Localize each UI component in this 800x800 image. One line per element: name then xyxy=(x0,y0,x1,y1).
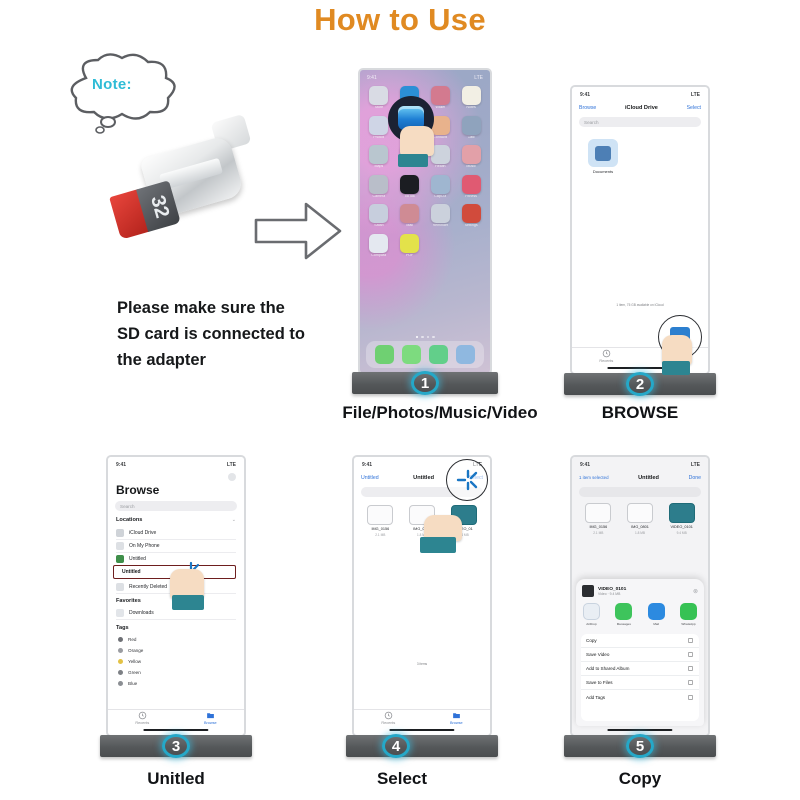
phone4-tab-recents-label: Recents xyxy=(381,721,395,725)
file-name: IMG_0156 xyxy=(589,525,607,529)
app-icon xyxy=(431,86,450,105)
app-label: Compass xyxy=(371,254,386,258)
phone2-search-placeholder: Search xyxy=(584,120,599,125)
phone2-status-time: 9:41 xyxy=(580,92,590,98)
file-name: VIDEO_0101 xyxy=(670,525,692,529)
phone2-status-bar: 9:41 LTE xyxy=(572,90,708,99)
app-label: Health xyxy=(435,165,445,169)
phone3-section-locations: Locations xyxy=(116,517,142,523)
phone1-app-pdf[interactable]: PDF xyxy=(397,234,423,258)
phone4-file-grid: IMG_01562.1 MBIMG_08011.8 MBVIDEO_019.4 … xyxy=(362,505,482,537)
phone3-row-recently-deleted-label: Recently Deleted xyxy=(129,584,167,590)
phone4-files-grid: 9:41 LTE Untitled Untitled Select IMG_01… xyxy=(354,457,490,735)
app-label: Music xyxy=(466,165,475,169)
phone2-status-right: LTE xyxy=(691,92,700,98)
phone5-navbar-title: Untitled xyxy=(638,475,659,481)
file-meta: 2.1 MB xyxy=(375,533,385,537)
app-icon xyxy=(462,86,481,105)
app-icon xyxy=(462,116,481,135)
phone3-tab-browse[interactable]: Browse xyxy=(204,711,217,725)
file-thumbnail-icon xyxy=(669,503,695,523)
phone4-file-item[interactable]: IMG_01562.1 MB xyxy=(362,505,399,537)
phone3-tag-label: Yellow xyxy=(128,659,141,664)
phone2-folder-item[interactable]: Documents xyxy=(588,139,618,174)
phone4-tabbar: Recents Browse xyxy=(354,709,490,726)
share-app-whatsapp[interactable]: WhatsApp xyxy=(678,603,699,626)
right-arrow-icon xyxy=(252,196,344,266)
phone5-status-time: 9:41 xyxy=(580,462,590,468)
phone2-folder-label: Documents xyxy=(588,169,618,174)
phone3-tag-green[interactable]: Green xyxy=(118,667,141,678)
download-icon xyxy=(687,651,694,658)
tag-dot-icon xyxy=(118,681,123,686)
cloud-icon xyxy=(687,665,694,672)
close-icon[interactable]: ⊗ xyxy=(693,588,698,595)
file-meta: 2.1 MB xyxy=(593,531,603,535)
dock-icon-phone[interactable] xyxy=(375,345,394,364)
phone3-browse-screen: 9:41 LTE Browse Search Locations ⌄ iClou… xyxy=(108,457,244,735)
phone3-tabbar: Recents Browse xyxy=(108,709,244,726)
share-row-label: Copy xyxy=(586,638,597,643)
phone1-dock xyxy=(366,341,484,368)
dock-icon-shortcut[interactable] xyxy=(456,345,475,364)
phone5-file-item[interactable]: IMG_01562.1 MB xyxy=(580,503,617,535)
caption-step-2: BROWSE xyxy=(570,403,710,423)
app-label: Wallet xyxy=(435,106,445,110)
share-row-add-tags[interactable]: Add Tags xyxy=(581,690,699,704)
app-label: PDF xyxy=(406,254,413,258)
drive-icon xyxy=(116,555,124,563)
app-label: Store xyxy=(375,106,384,110)
phone3-row-untitled-selected-label: Untitled xyxy=(122,569,141,575)
phone3-status-time: 9:41 xyxy=(116,462,126,468)
phone1-app-settings[interactable]: Settings xyxy=(458,204,484,228)
phone5-search-bar[interactable] xyxy=(579,487,701,497)
microsd-card: 32 xyxy=(109,180,181,239)
app-icon xyxy=(400,234,419,253)
app-icon xyxy=(431,204,450,223)
share-row-copy[interactable]: Copy xyxy=(581,634,699,648)
phone2-footnote: 1 item, 75 GB available on iCloud xyxy=(584,303,696,308)
phone5-file-item[interactable]: VIDEO_01019.4 MB xyxy=(663,503,700,535)
file-meta: 1.8 MB xyxy=(635,531,645,535)
phone1-app-maps[interactable]: Maps xyxy=(366,145,392,169)
phone3-more-button[interactable] xyxy=(228,473,236,481)
app-icon xyxy=(369,86,388,105)
phone5-file-item[interactable]: IMG_08011.8 MB xyxy=(622,503,659,535)
note-label: Note: xyxy=(92,76,132,93)
phone3-tab-recents[interactable]: Recents xyxy=(135,711,149,725)
phone-step-4: 9:41 LTE Untitled Untitled Select IMG_01… xyxy=(352,455,492,755)
phone1-status-time: 9:41 xyxy=(367,75,377,81)
share-row-label: Add Tags xyxy=(586,695,605,700)
how-to-use-infographic: How to Use Note: 32 Please make sure the… xyxy=(0,0,800,800)
phone3-row-downloads-label: Downloads xyxy=(129,610,154,616)
phone1-app-fitness[interactable]: Fitness xyxy=(458,175,484,199)
phone4-screen: 9:41 LTE Untitled Untitled Select IMG_01… xyxy=(352,455,492,737)
app-label: Calc xyxy=(468,136,475,140)
phone1-app-notes[interactable]: Notes xyxy=(458,86,484,110)
hand-cuff xyxy=(398,154,428,167)
share-app-mail[interactable]: Mail xyxy=(646,603,667,626)
phone1-app-safari[interactable]: Safari xyxy=(366,204,392,228)
phone1-app-tiktok[interactable]: TikTok xyxy=(397,175,423,199)
phone1-page-dots xyxy=(360,336,490,339)
phone5-navbar: 1 item selected Untitled Done xyxy=(572,471,708,484)
dock-icon-whatsapp[interactable] xyxy=(429,345,448,364)
app-label: Fitness xyxy=(465,195,477,199)
share-app-label: AirDrop xyxy=(586,622,597,626)
app-label: Camera xyxy=(372,195,385,199)
app-label: TikTok xyxy=(405,195,415,199)
phone1-app-reminder[interactable]: Reminder xyxy=(428,204,454,228)
share-row-save-to-files[interactable]: Save to Files xyxy=(581,676,699,690)
phone-step-1: 9:41 LTE StoreFilesWalletNotesPhotosCloc… xyxy=(358,68,492,393)
file-thumbnail-icon xyxy=(627,503,653,523)
app-icon xyxy=(369,204,388,223)
share-app-icon xyxy=(615,603,632,620)
phone3-search-placeholder: Search xyxy=(120,504,135,509)
share-row-label: Add to Shared Album xyxy=(586,666,629,671)
app-label: Notes xyxy=(466,106,475,110)
phone5-file-grid: IMG_01562.1 MBIMG_08011.8 MBVIDEO_01019.… xyxy=(580,503,700,535)
share-sheet-apps: AirDropMessagesMailWhatsApp xyxy=(581,603,699,629)
phone3-tab-recents-label: Recents xyxy=(135,721,149,725)
share-app-label: Mail xyxy=(653,622,659,626)
caption-step-5: Copy xyxy=(570,769,710,789)
phone5-selection-count: 1 item selected xyxy=(579,475,609,480)
app-icon xyxy=(369,234,388,253)
app-icon xyxy=(462,175,481,194)
phone3-tag-red[interactable]: Red xyxy=(118,634,136,645)
folder-icon xyxy=(588,139,618,167)
phone-step-2: 9:41 LTE Browse iCloud Drive Select Sear… xyxy=(570,85,710,395)
pointing-hand-icon xyxy=(400,126,434,156)
step-number-1: 1 xyxy=(411,371,439,395)
phone4-stand xyxy=(346,735,498,757)
phone3-section-favorites: Favorites xyxy=(116,598,141,604)
phone4-back-button[interactable]: Untitled xyxy=(361,475,379,481)
step-number-3: 3 xyxy=(162,734,190,758)
phone3-row-icloud-label: iCloud Drive xyxy=(129,530,156,536)
phone4-status-time: 9:41 xyxy=(362,462,372,468)
phone3-tag-label: Green xyxy=(128,670,141,675)
phone1-status-right: LTE xyxy=(474,75,483,81)
app-icon xyxy=(431,175,450,194)
phone2-tab-recents[interactable]: Recents xyxy=(599,349,613,363)
phone1-app-mail[interactable]: Mail xyxy=(397,204,423,228)
phone4-home-indicator xyxy=(389,729,454,731)
step-number-5: 5 xyxy=(626,734,654,758)
phone3-home-indicator xyxy=(143,729,208,731)
phone5-home-indicator xyxy=(607,729,672,731)
app-label: Maps xyxy=(374,165,383,169)
tag-icon xyxy=(687,694,694,701)
app-icon xyxy=(369,145,388,164)
app-label: Reminder xyxy=(433,224,449,228)
phone2-navbar: Browse iCloud Drive Select xyxy=(572,101,708,114)
phone2-back-button[interactable]: Browse xyxy=(579,105,596,111)
phone1-app-camera[interactable]: Camera xyxy=(366,175,392,199)
share-row-add-to-shared-album[interactable]: Add to Shared Album xyxy=(581,662,699,676)
phone2-hand-cuff xyxy=(662,361,690,375)
caption-step-4: Select xyxy=(332,769,472,789)
app-icon xyxy=(462,145,481,164)
share-row-label: Save Video xyxy=(586,652,609,657)
phone-step-3: 9:41 LTE Browse Search Locations ⌄ iClou… xyxy=(106,455,246,755)
folder-icon xyxy=(687,679,694,686)
phone3-row-icloud[interactable]: iCloud Drive xyxy=(116,527,236,540)
file-name: IMG_0156 xyxy=(371,527,389,531)
phone4-tab-browse[interactable]: Browse xyxy=(450,711,463,725)
file-thumbnail-icon xyxy=(367,505,393,525)
phone5-status-right: LTE xyxy=(691,462,700,468)
caption-step-1: File/Photos/Music/Video xyxy=(320,403,560,423)
share-row-label: Save to Files xyxy=(586,680,613,685)
phone3-tag-label: Blue xyxy=(128,681,137,686)
phone3-section-tags: Tags xyxy=(116,625,129,631)
select-sparkle-icon xyxy=(456,469,480,496)
phone3-row-onmyphone[interactable]: On My Phone xyxy=(116,540,236,553)
app-label: Mail xyxy=(406,224,413,228)
phone5-done-button[interactable]: Done xyxy=(689,475,701,481)
share-app-icon xyxy=(648,603,665,620)
phone3-screen: 9:41 LTE Browse Search Locations ⌄ iClou… xyxy=(106,455,246,737)
tag-dot-icon xyxy=(118,637,123,642)
phone1-app-wallet[interactable]: Wallet xyxy=(428,86,454,110)
phone-icon xyxy=(116,542,124,550)
phone3-tab-browse-label: Browse xyxy=(204,721,217,725)
share-row-save-video[interactable]: Save Video xyxy=(581,648,699,662)
phone3-page-title: Browse xyxy=(116,483,159,497)
phone1-app-compass[interactable]: Compass xyxy=(366,234,392,258)
phone1-screen: 9:41 LTE StoreFilesWalletNotesPhotosCloc… xyxy=(358,68,492,375)
phone3-tag-label: Orange xyxy=(128,648,143,653)
share-file-sub: Video · 9.4 MB xyxy=(598,592,626,596)
dock-icon-messages[interactable] xyxy=(402,345,421,364)
file-thumbnail-icon xyxy=(585,503,611,523)
share-app-label: Messages xyxy=(617,622,631,626)
tag-dot-icon xyxy=(118,648,123,653)
phone1-app-calc[interactable]: Calc xyxy=(458,116,484,140)
copy-icon xyxy=(687,637,694,644)
phone1-app-capcut[interactable]: CapCut xyxy=(428,175,454,199)
phone1-app-music[interactable]: Music xyxy=(458,145,484,169)
phone3-status-bar: 9:41 LTE xyxy=(108,460,244,469)
phone1-app-store[interactable]: Store xyxy=(366,86,392,110)
step-number-4: 4 xyxy=(382,734,410,758)
app-icon xyxy=(400,175,419,194)
phone3-hand-cuff xyxy=(172,595,204,610)
trash-icon xyxy=(116,583,124,591)
share-sheet-header: VIDEO_0101 Video · 9.4 MB ⊗ xyxy=(582,584,698,598)
caption-step-3: Unitled xyxy=(106,769,246,789)
phone3-search-input[interactable]: Search xyxy=(115,501,237,511)
app-label: Contacts xyxy=(433,136,447,140)
share-app-icon xyxy=(680,603,697,620)
icloud-icon xyxy=(116,529,124,537)
phone3-tag-orange[interactable]: Orange xyxy=(118,645,143,656)
page-title: How to Use xyxy=(0,2,800,38)
share-app-icon xyxy=(583,603,600,620)
share-app-label: WhatsApp xyxy=(681,622,695,626)
share-sheet-rows: CopySave VideoAdd to Shared AlbumSave to… xyxy=(581,634,699,721)
file-name: IMG_0801 xyxy=(631,525,649,529)
tag-dot-icon xyxy=(118,659,123,664)
phone3-tag-blue[interactable]: Blue xyxy=(118,678,137,689)
phone3-row-onmyphone-label: On My Phone xyxy=(129,543,160,549)
phone5-share-screen: 9:41 LTE 1 item selected Untitled Done I… xyxy=(572,457,708,735)
phone2-screen: 9:41 LTE Browse iCloud Drive Select Sear… xyxy=(570,85,710,375)
phone5-status-bar: 9:41 LTE xyxy=(572,460,708,469)
app-icon xyxy=(369,175,388,194)
sd-card-adapter: 32 xyxy=(108,110,244,240)
phone4-footnote: 3 items xyxy=(354,662,490,667)
app-label: CapCut xyxy=(434,195,446,199)
phone2-select-button[interactable]: Select xyxy=(687,105,701,111)
phone2-files-app: 9:41 LTE Browse iCloud Drive Select Sear… xyxy=(572,87,708,373)
app-icon xyxy=(400,204,419,223)
share-app-airdrop[interactable]: AirDrop xyxy=(581,603,602,626)
phone4-hand-cuff xyxy=(420,537,456,553)
share-file-thumbnail xyxy=(582,585,594,597)
phone3-tag-yellow[interactable]: Yellow xyxy=(118,656,141,667)
step-number-2: 2 xyxy=(626,372,654,396)
downloads-icon xyxy=(116,609,124,617)
phone3-row-untitled-green-label: Untitled xyxy=(129,556,146,562)
app-icon xyxy=(369,116,388,135)
phone5-screen: 9:41 LTE 1 item selected Untitled Done I… xyxy=(570,455,710,737)
phone2-navbar-title: iCloud Drive xyxy=(625,105,658,111)
phone2-search-input[interactable]: Search xyxy=(579,117,701,127)
chevron-down-icon[interactable]: ⌄ xyxy=(232,517,236,523)
phone-step-5: 9:41 LTE 1 item selected Untitled Done I… xyxy=(570,455,710,755)
phone5-share-sheet: VIDEO_0101 Video · 9.4 MB ⊗ AirDropMessa… xyxy=(576,579,704,726)
phone3-status-right: LTE xyxy=(227,462,236,468)
app-icon xyxy=(462,204,481,223)
app-label: Settings xyxy=(465,224,478,228)
app-label: Safari xyxy=(374,224,383,228)
phone2-tab-recents-label: Recents xyxy=(599,359,613,363)
instruction-text: Please make sure the SD card is connecte… xyxy=(117,295,312,373)
app-label: Photos xyxy=(373,136,384,140)
phone4-navbar-title: Untitled xyxy=(413,475,434,481)
phone1-status-bar: 9:41 LTE xyxy=(360,73,490,83)
file-meta: 9.4 MB xyxy=(677,531,687,535)
phone3-tag-label: Red xyxy=(128,637,136,642)
share-app-messages[interactable]: Messages xyxy=(613,603,634,626)
phone4-tab-recents[interactable]: Recents xyxy=(381,711,395,725)
phone4-tab-browse-label: Browse xyxy=(450,721,463,725)
tag-dot-icon xyxy=(118,670,123,675)
